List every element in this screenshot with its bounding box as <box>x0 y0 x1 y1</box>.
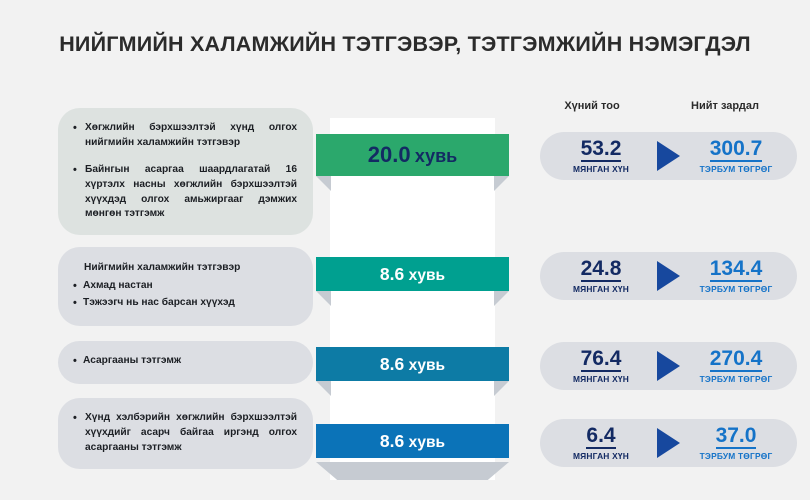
cost-label: ТЭРБУМ ТӨГРӨГ <box>700 451 773 461</box>
column-header-cost: Нийт зардал <box>655 100 795 112</box>
stat-pill-1: 53.2 МЯНГАН ХҮН 300.7 ТЭРБУМ ТӨГРӨГ <box>540 132 797 180</box>
people-label: МЯНГАН ХҮН <box>573 374 629 384</box>
column-base-shadow <box>316 462 509 480</box>
list-item: Асаргааны тэтгэмж <box>72 354 297 369</box>
list-item: Хөгжлийн бэрхшээлтэй хүнд олгох нийгмийн… <box>72 121 297 151</box>
cost-stat: 270.4 ТЭРБУМ ТӨГРӨГ <box>684 348 788 384</box>
cost-label: ТЭРБУМ ТӨГРӨГ <box>700 374 773 384</box>
people-stat: 53.2 МЯНГАН ХҮН <box>549 138 653 174</box>
stat-pill-3: 76.4 МЯНГАН ХҮН 270.4 ТЭРБУМ ТӨГРӨГ <box>540 342 797 390</box>
people-stat: 24.8 МЯНГАН ХҮН <box>549 258 653 294</box>
category-card-1: Хөгжлийн бэрхшээлтэй хүнд олгох нийгмийн… <box>58 108 313 235</box>
cost-stat: 300.7 ТЭРБУМ ТӨГРӨГ <box>684 138 788 174</box>
percentage-value: 8.6 <box>380 264 404 284</box>
people-stat: 6.4 МЯНГАН ХҮН <box>549 425 653 461</box>
bullet-list: Ахмад настан Тэжээгч нь нас барсан хүүхэ… <box>72 279 297 311</box>
ribbon-fold-left <box>316 176 331 191</box>
cost-label: ТЭРБУМ ТӨГРӨГ <box>700 164 773 174</box>
arrow-right-icon <box>657 261 680 291</box>
percentage-value: 8.6 <box>380 354 404 374</box>
ribbon-fold-right <box>494 176 509 191</box>
page-title: НИЙГМИЙН ХАЛАМЖИЙН ТЭТГЭВЭР, ТЭТГЭМЖИЙН … <box>0 32 810 57</box>
people-value: 6.4 <box>586 425 615 449</box>
bullet-list: Асаргааны тэтгэмж <box>72 354 297 369</box>
card-heading: Нийгмийн халамжийн тэтгэвэр <box>72 260 297 275</box>
percentage-unit: хувь <box>409 267 446 284</box>
cost-label: ТЭРБУМ ТӨГРӨГ <box>700 284 773 294</box>
list-item: Тэжээгч нь нас барсан хүүхэд <box>72 296 297 311</box>
percentage-unit: хувь <box>409 357 446 374</box>
people-value: 24.8 <box>581 258 622 282</box>
percentage-value: 20.0 <box>368 142 411 167</box>
percentage-unit: хувь <box>409 434 446 451</box>
ribbon-fold-right <box>494 291 509 306</box>
bullet-list: Хөгжлийн бэрхшээлтэй хүнд олгох нийгмийн… <box>72 121 297 222</box>
list-item: Хүнд хэлбэрийн хөгжлийн бэрхшээлтэй хүүх… <box>72 411 297 456</box>
cost-stat: 37.0 ТЭРБУМ ТӨГРӨГ <box>684 425 788 461</box>
category-card-4: Хүнд хэлбэрийн хөгжлийн бэрхшээлтэй хүүх… <box>58 398 313 469</box>
percentage-value: 8.6 <box>380 431 404 451</box>
people-label: МЯНГАН ХҮН <box>573 284 629 294</box>
cost-value: 300.7 <box>710 138 763 162</box>
category-card-2: Нийгмийн халамжийн тэтгэвэр Ахмад настан… <box>58 247 313 326</box>
stat-pill-2: 24.8 МЯНГАН ХҮН 134.4 ТЭРБУМ ТӨГРӨГ <box>540 252 797 300</box>
percentage-unit: хувь <box>415 146 457 166</box>
percentage-ribbon-4: 8.6 хувь <box>316 424 509 458</box>
people-label: МЯНГАН ХҮН <box>573 451 629 461</box>
arrow-right-icon <box>657 428 680 458</box>
people-label: МЯНГАН ХҮН <box>573 164 629 174</box>
people-value: 76.4 <box>581 348 622 372</box>
people-stat: 76.4 МЯНГАН ХҮН <box>549 348 653 384</box>
ribbon-fold-left <box>316 291 331 306</box>
arrow-right-icon <box>657 141 680 171</box>
cost-value: 134.4 <box>710 258 763 282</box>
percentage-ribbon-3: 8.6 хувь <box>316 347 509 381</box>
cost-stat: 134.4 ТЭРБУМ ТӨГРӨГ <box>684 258 788 294</box>
cost-value: 270.4 <box>710 348 763 372</box>
list-item: Ахмад настан <box>72 279 297 294</box>
percentage-ribbon-1: 20.0 хувь <box>316 134 509 176</box>
category-card-3: Асаргааны тэтгэмж <box>58 341 313 384</box>
ribbon-fold-right <box>494 381 509 396</box>
bullet-list: Хүнд хэлбэрийн хөгжлийн бэрхшээлтэй хүүх… <box>72 411 297 456</box>
stat-pill-4: 6.4 МЯНГАН ХҮН 37.0 ТЭРБУМ ТӨГРӨГ <box>540 419 797 467</box>
ribbon-fold-left <box>316 381 331 396</box>
percentage-ribbon-2: 8.6 хувь <box>316 257 509 291</box>
list-item: Байнгын асаргаа шаардлагатай 16 хүртэлх … <box>72 163 297 223</box>
column-header-people: Хүний тоо <box>537 100 647 112</box>
people-value: 53.2 <box>581 138 622 162</box>
cost-value: 37.0 <box>716 425 757 449</box>
arrow-right-icon <box>657 351 680 381</box>
